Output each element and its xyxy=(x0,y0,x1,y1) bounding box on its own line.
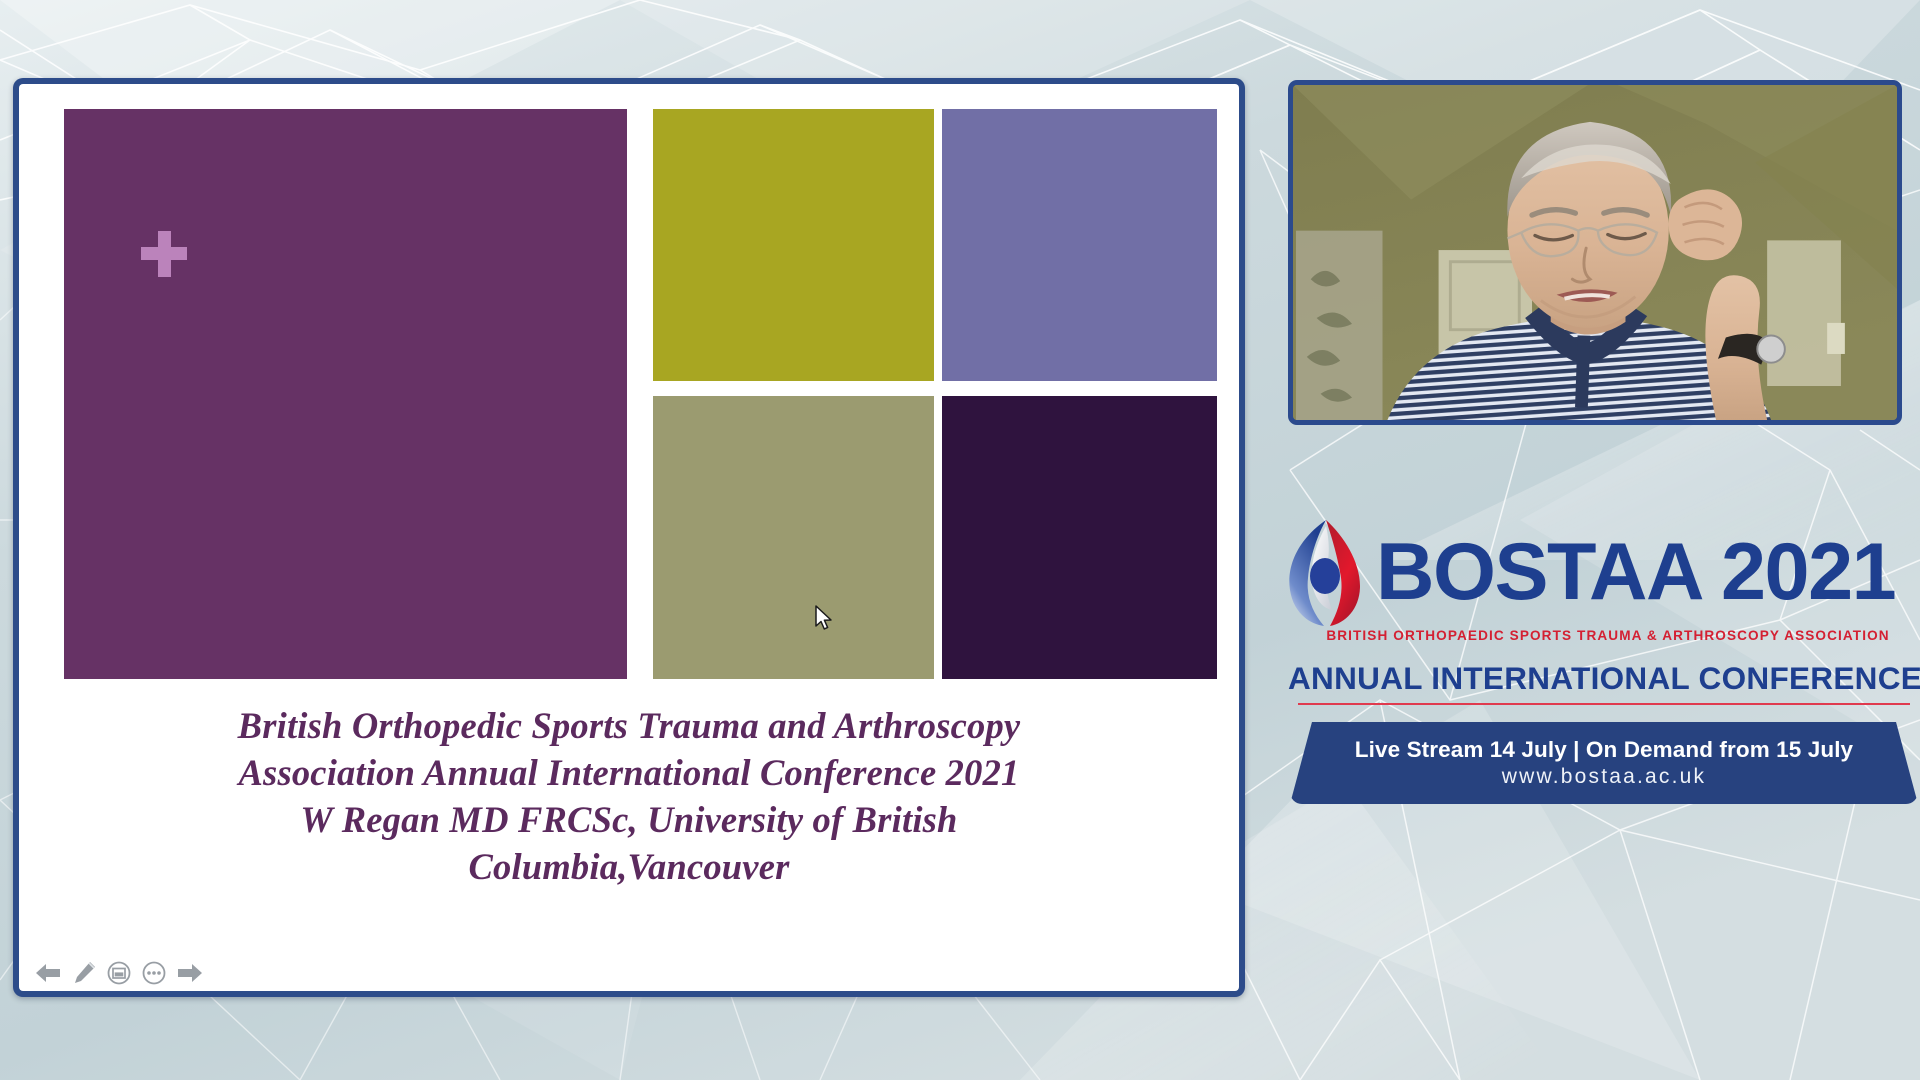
website-url-text[interactable]: www.bostaa.ac.uk xyxy=(1502,765,1706,789)
pen-annotation-icon[interactable] xyxy=(72,961,96,985)
bostaa-logo-row: BOSTAA 2021 xyxy=(1288,515,1920,630)
presentation-slide-frame[interactable]: British Orthopedic Sports Trauma and Art… xyxy=(13,78,1245,997)
conference-title: ANNUAL INTERNATIONAL CONFERENCE xyxy=(1288,660,1920,697)
red-divider-rule xyxy=(1298,703,1910,705)
plus-icon xyxy=(141,231,187,277)
decor-block-olive xyxy=(653,109,934,381)
stream-dates-text: Live Stream 14 July | On Demand from 15 … xyxy=(1355,737,1853,763)
bostaa-tagline: BRITISH ORTHOPAEDIC SPORTS TRAUMA & ARTH… xyxy=(1296,628,1920,643)
presenter-video-frame[interactable] xyxy=(1288,80,1902,425)
next-slide-arrow-icon[interactable] xyxy=(177,962,203,984)
slide-subtitle-line-3: W Regan MD FRCSc, University of British xyxy=(79,796,1179,843)
decor-block-periwinkle xyxy=(942,109,1217,381)
slide-subtitle-line-1: British Orthopedic Sports Trauma and Art… xyxy=(79,702,1179,749)
stream-info-banner: Live Stream 14 July | On Demand from 15 … xyxy=(1290,722,1918,804)
slide-toolbar[interactable] xyxy=(35,961,203,985)
bostaa-wordmark: BOSTAA 2021 xyxy=(1376,532,1895,613)
bostaa-branding-panel: BOSTAA 2021 BRITISH ORTHOPAEDIC SPORTS T… xyxy=(1288,470,1920,835)
decor-block-dark-plum xyxy=(942,396,1217,679)
slide-subtitle-line-4: Columbia,Vancouver xyxy=(79,843,1179,890)
bostaa-flame-logo-icon xyxy=(1280,516,1372,629)
slide-canvas[interactable]: British Orthopedic Sports Trauma and Art… xyxy=(19,84,1239,991)
more-options-icon[interactable] xyxy=(142,961,166,985)
slide-subtitle-line-2: Association Annual International Confere… xyxy=(79,749,1179,796)
presenter-video-feed[interactable] xyxy=(1293,85,1897,420)
decor-block-sage xyxy=(653,396,934,679)
slide-thumbnail-icon[interactable] xyxy=(107,961,131,985)
previous-slide-arrow-icon[interactable] xyxy=(35,962,61,984)
slide-subtitle: British Orthopedic Sports Trauma and Art… xyxy=(79,702,1179,890)
decor-block-large-purple xyxy=(64,109,627,679)
